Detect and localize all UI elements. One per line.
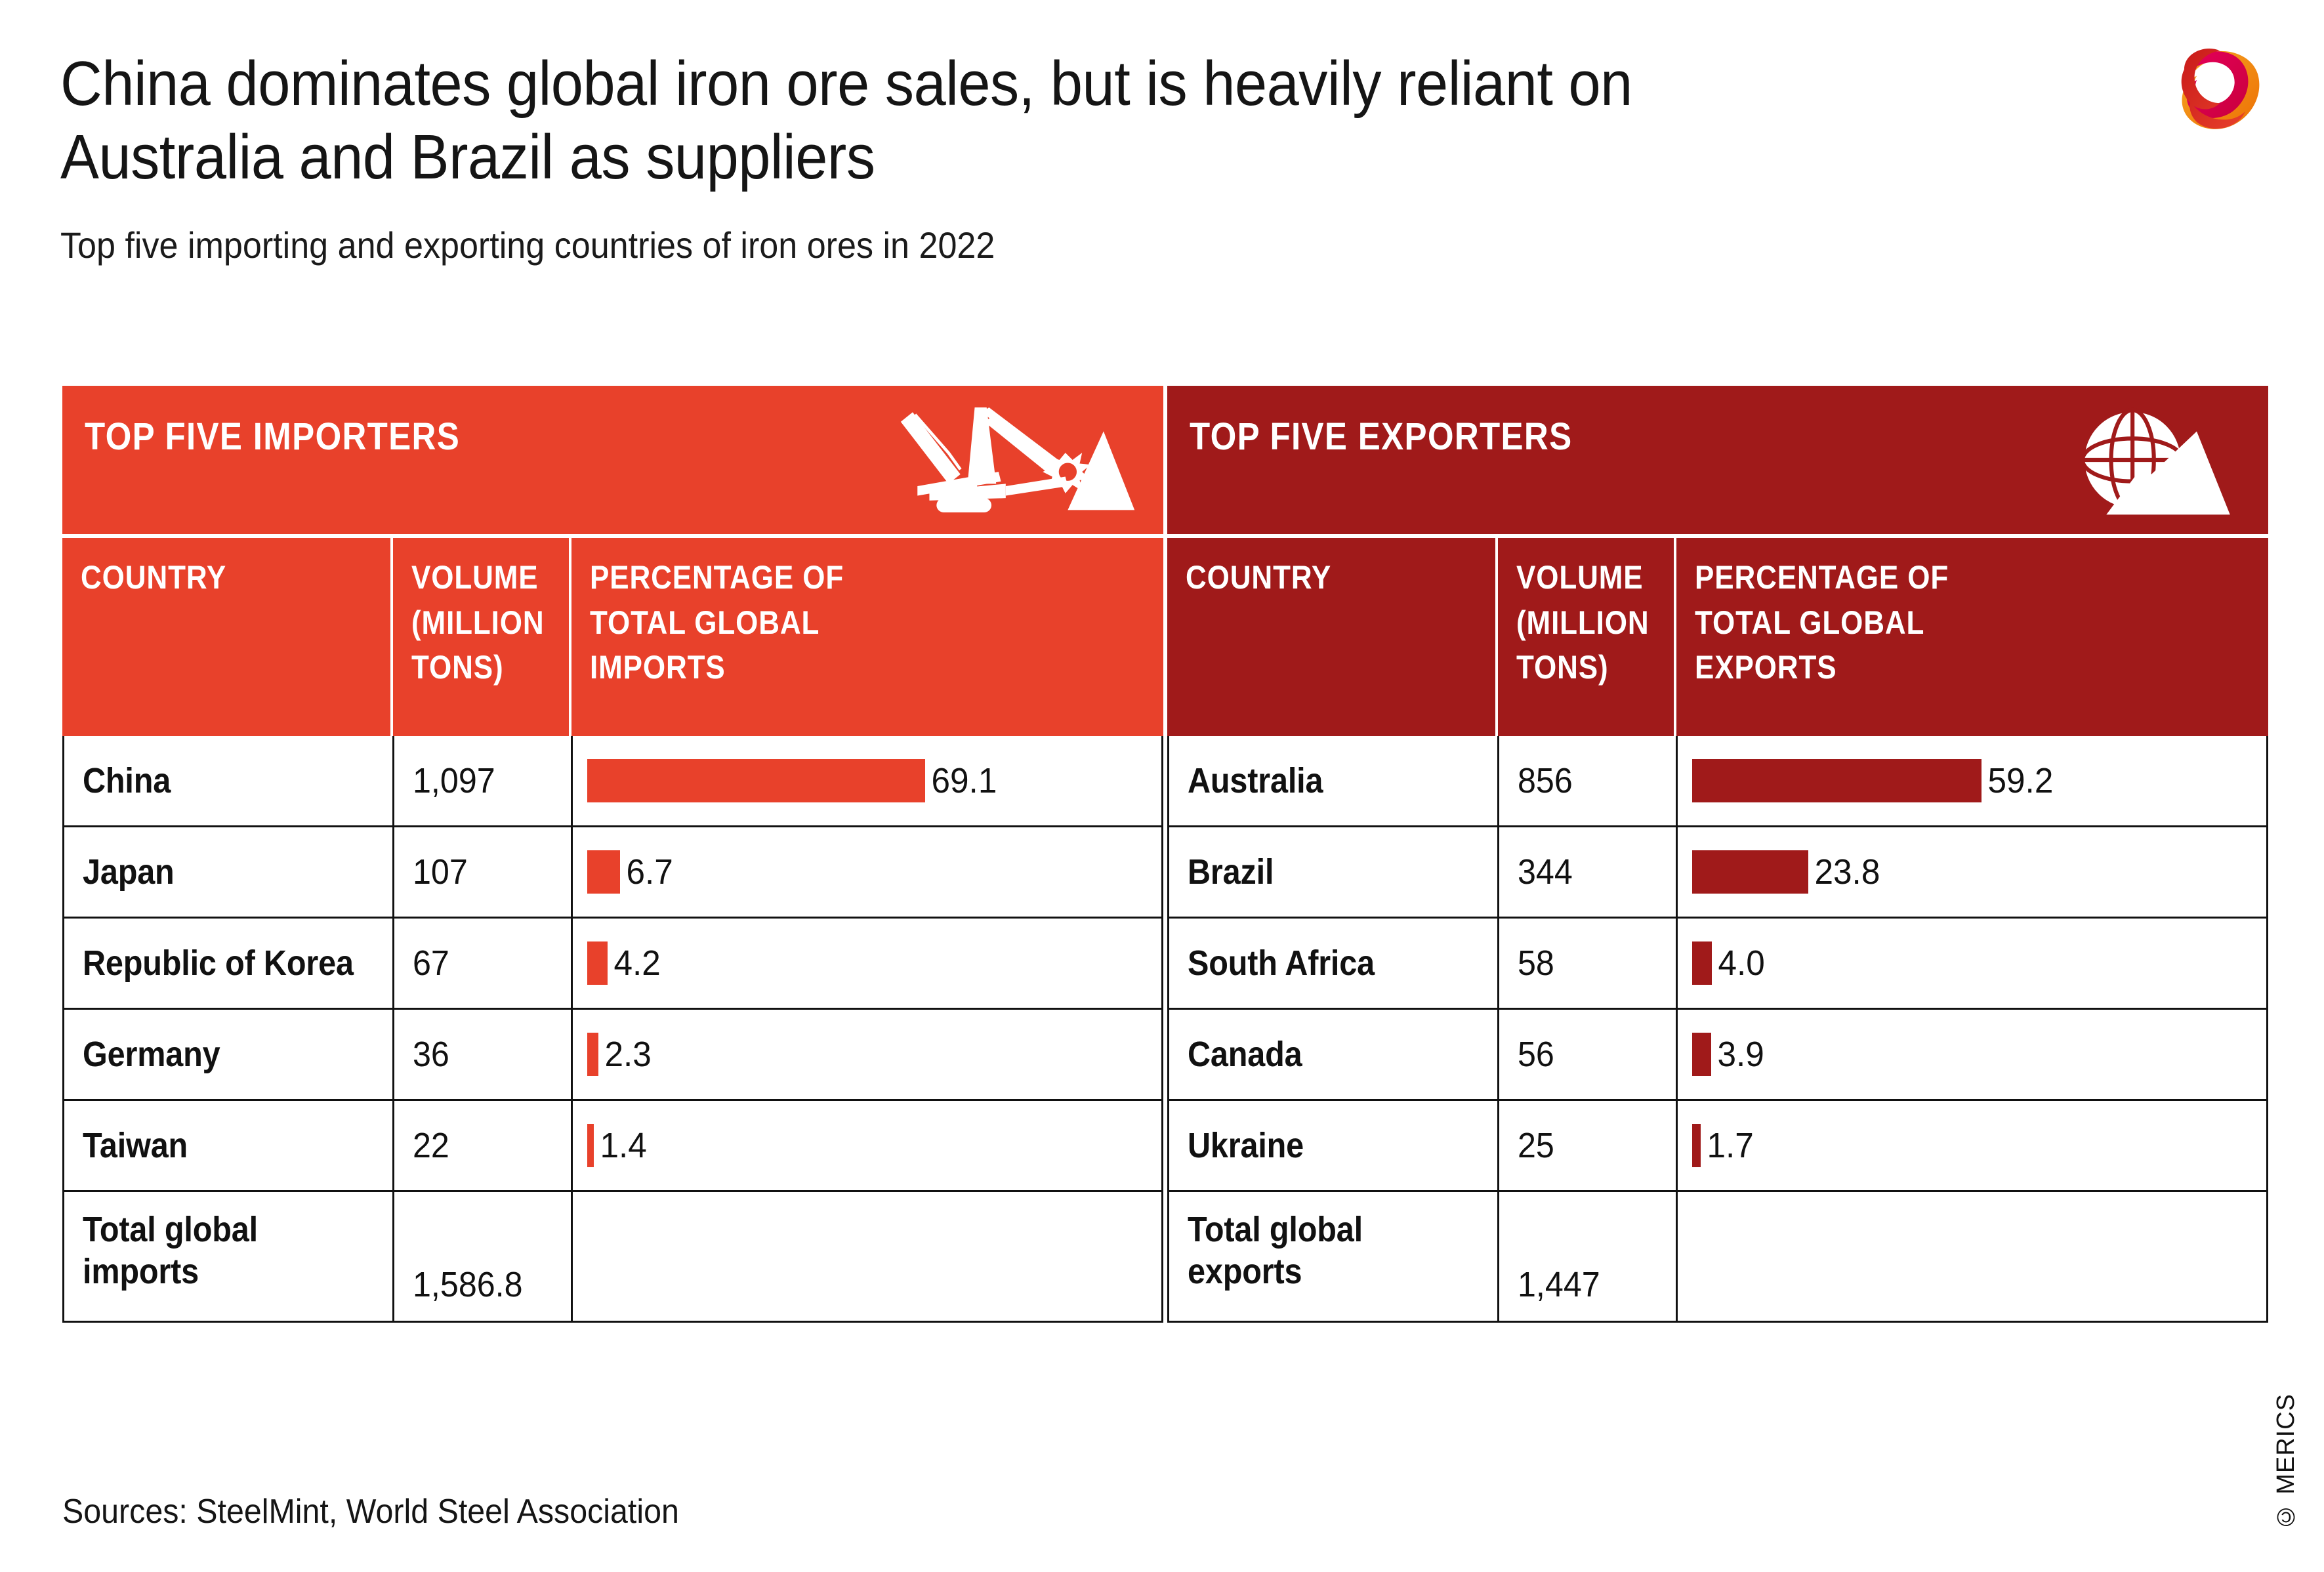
percentage-label: 3.9 bbox=[1711, 1034, 1764, 1075]
col-header-country-exporters: COUNTRY bbox=[1167, 538, 1495, 736]
cell-volume: 344 bbox=[1497, 827, 1676, 917]
percentage-bar bbox=[587, 1033, 598, 1076]
cell-percentage: 1.7 bbox=[1676, 1101, 2266, 1190]
cell-total-label: Total global exports bbox=[1169, 1192, 1497, 1321]
cell-volume: 856 bbox=[1497, 736, 1676, 825]
copyright-notice: © MERICS bbox=[2272, 1394, 2300, 1530]
percentage-bar bbox=[1692, 1033, 1711, 1076]
col-header-country-importers: COUNTRY bbox=[62, 538, 390, 736]
cell-percentage: 1.4 bbox=[571, 1101, 1161, 1190]
cell-volume: 58 bbox=[1497, 919, 1676, 1008]
cell-total-percentage bbox=[571, 1192, 1161, 1321]
cell-total-label: Total global imports bbox=[64, 1192, 392, 1321]
panel-exporters-title: TOP FIVE EXPORTERS bbox=[1190, 415, 2139, 459]
page-header: China dominates global iron ore sales, b… bbox=[60, 47, 2029, 266]
table-row: Taiwan 22 1.4 bbox=[64, 1099, 1161, 1190]
cell-volume: 107 bbox=[392, 827, 571, 917]
table-row: Germany 36 2.3 bbox=[64, 1008, 1161, 1099]
cell-country: Canada bbox=[1169, 1010, 1497, 1099]
table-row-total: Total global exports 1,447 bbox=[1169, 1190, 2266, 1321]
percentage-bar bbox=[1692, 759, 1982, 802]
percentage-bar bbox=[1692, 941, 1712, 985]
cell-volume: 36 bbox=[392, 1010, 571, 1099]
percentage-label: 59.2 bbox=[1982, 760, 2053, 801]
percentage-label: 4.2 bbox=[608, 943, 661, 983]
exporters-column-headers: COUNTRY VOLUME (MILLION TONS) PERCENTAGE… bbox=[1167, 538, 2268, 736]
percentage-label: 69.1 bbox=[925, 760, 997, 801]
percentage-bar bbox=[587, 1124, 594, 1167]
cell-volume: 67 bbox=[392, 919, 571, 1008]
percentage-label: 1.4 bbox=[594, 1125, 647, 1166]
cell-total-volume: 1,447 bbox=[1497, 1192, 1676, 1321]
globe-ore-pile-icon bbox=[2057, 400, 2254, 522]
col-header-volume-exporters: VOLUME (MILLION TONS) bbox=[1495, 538, 1674, 736]
col-header-percentage-importers: PERCENTAGE OF TOTAL GLOBAL IMPORTS bbox=[569, 538, 1163, 736]
cell-percentage: 4.0 bbox=[1676, 919, 2266, 1008]
percentage-label: 6.7 bbox=[620, 852, 673, 892]
table-row: Japan 107 6.7 bbox=[64, 825, 1161, 917]
panel-exporters-header: TOP FIVE EXPORTERS bbox=[1167, 386, 2268, 534]
percentage-bar bbox=[1692, 850, 1808, 894]
bar-group: 69.1 bbox=[587, 736, 1150, 825]
bar-group: 3.9 bbox=[1692, 1010, 2254, 1099]
cell-country: China bbox=[64, 736, 392, 825]
table-row: Ukraine 25 1.7 bbox=[1169, 1099, 2266, 1190]
panel-importers: TOP FIVE IMPORTERS bbox=[62, 386, 1163, 1323]
cell-country: Taiwan bbox=[64, 1101, 392, 1190]
panel-exporters: TOP FIVE EXPORTERS bbox=[1167, 386, 2268, 1323]
cell-percentage: 59.2 bbox=[1676, 736, 2266, 825]
percentage-bar bbox=[587, 941, 608, 985]
percentage-label: 4.0 bbox=[1712, 943, 1765, 983]
bar-group: 1.4 bbox=[587, 1101, 1150, 1190]
bar-group: 23.8 bbox=[1692, 827, 2254, 917]
percentage-bar bbox=[587, 850, 620, 894]
cell-percentage: 2.3 bbox=[571, 1010, 1161, 1099]
bar-group: 59.2 bbox=[1692, 736, 2254, 825]
table-row: China 1,097 69.1 bbox=[64, 736, 1161, 825]
bar-group: 4.0 bbox=[1692, 919, 2254, 1008]
table-row: Republic of Korea 67 4.2 bbox=[64, 917, 1161, 1008]
percentage-label: 2.3 bbox=[598, 1034, 652, 1075]
cell-percentage: 23.8 bbox=[1676, 827, 2266, 917]
importers-column-headers: COUNTRY VOLUME (MILLION TONS) PERCENTAGE… bbox=[62, 538, 1163, 736]
bar-group: 6.7 bbox=[587, 827, 1150, 917]
col-header-volume-importers: VOLUME (MILLION TONS) bbox=[390, 538, 569, 736]
bar-group: 1.7 bbox=[1692, 1101, 2254, 1190]
cell-country: Australia bbox=[1169, 736, 1497, 825]
col-header-percentage-exporters: PERCENTAGE OF TOTAL GLOBAL EXPORTS bbox=[1674, 538, 2268, 736]
tables-board: TOP FIVE IMPORTERS bbox=[62, 386, 2268, 1323]
mining-excavator-icon bbox=[873, 400, 1149, 522]
percentage-bar bbox=[1692, 1124, 1701, 1167]
cell-percentage: 4.2 bbox=[571, 919, 1161, 1008]
bar-group: 4.2 bbox=[587, 919, 1150, 1008]
cell-country: Ukraine bbox=[1169, 1101, 1497, 1190]
cell-volume: 1,097 bbox=[392, 736, 571, 825]
table-row: Brazil 344 23.8 bbox=[1169, 825, 2266, 917]
cell-total-percentage bbox=[1676, 1192, 2266, 1321]
table-row: South Africa 58 4.0 bbox=[1169, 917, 2266, 1008]
cell-volume: 56 bbox=[1497, 1010, 1676, 1099]
cell-percentage: 6.7 bbox=[571, 827, 1161, 917]
exporters-rows: Australia 856 59.2 Brazil 344 23.8 bbox=[1167, 736, 2268, 1323]
cell-percentage: 69.1 bbox=[571, 736, 1161, 825]
cell-percentage: 3.9 bbox=[1676, 1010, 2266, 1099]
percentage-label: 1.7 bbox=[1701, 1125, 1754, 1166]
cell-volume: 22 bbox=[392, 1101, 571, 1190]
cell-country: Japan bbox=[64, 827, 392, 917]
table-row: Australia 856 59.2 bbox=[1169, 736, 2266, 825]
table-row-total: Total global imports 1,586.8 bbox=[64, 1190, 1161, 1321]
page-title: China dominates global iron ore sales, b… bbox=[60, 47, 1811, 195]
cell-country: South Africa bbox=[1169, 919, 1497, 1008]
cell-country: Brazil bbox=[1169, 827, 1497, 917]
merics-logo bbox=[2165, 38, 2279, 143]
percentage-bar bbox=[587, 759, 925, 802]
panel-importers-header: TOP FIVE IMPORTERS bbox=[62, 386, 1163, 534]
cell-country: Germany bbox=[64, 1010, 392, 1099]
cell-total-volume: 1,586.8 bbox=[392, 1192, 571, 1321]
cell-country: Republic of Korea bbox=[64, 919, 392, 1008]
sources-note: Sources: SteelMint, World Steel Associat… bbox=[62, 1492, 679, 1531]
percentage-label: 23.8 bbox=[1808, 852, 1880, 892]
bar-group: 2.3 bbox=[587, 1010, 1150, 1099]
page-subtitle: Top five importing and exporting countri… bbox=[60, 195, 1891, 266]
importers-rows: China 1,097 69.1 Japan 107 6.7 bbox=[62, 736, 1163, 1323]
cell-volume: 25 bbox=[1497, 1101, 1676, 1190]
table-row: Canada 56 3.9 bbox=[1169, 1008, 2266, 1099]
